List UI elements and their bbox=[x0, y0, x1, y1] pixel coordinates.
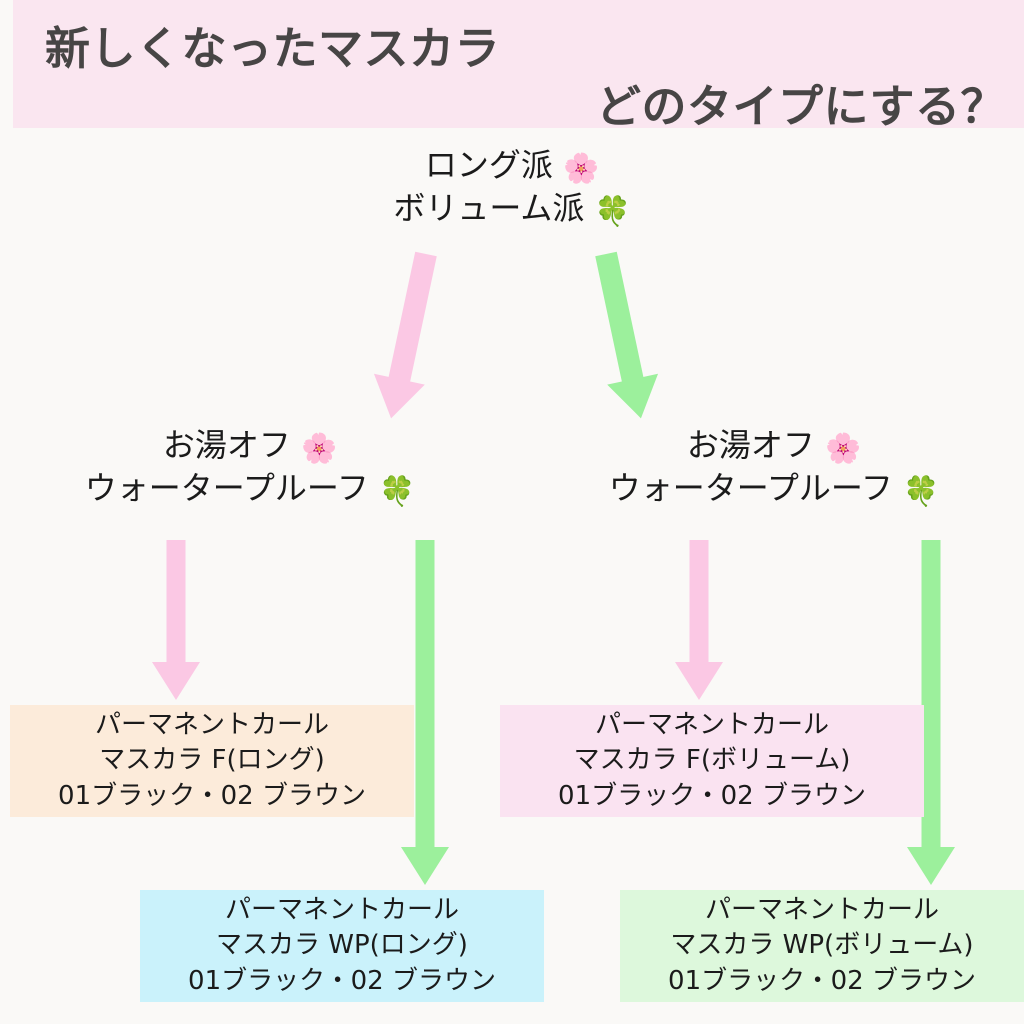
right-option-hotwater-row: お湯オフ 🌸 bbox=[524, 424, 1024, 467]
arrow-shaft bbox=[416, 540, 435, 847]
arrow-head bbox=[366, 374, 425, 424]
branch-left-decision-node: お湯オフ 🌸 ウォータープルーフ 🍀 bbox=[0, 424, 500, 511]
four-leaf-clover-icon: 🍀 bbox=[379, 474, 415, 508]
product-line-2: マスカラ WP(ロング) bbox=[216, 928, 468, 963]
left-option-hotwater-label: お湯オフ bbox=[163, 426, 291, 464]
header-title-line-1: 新しくなったマスカラ bbox=[45, 12, 500, 77]
header-banner: 新しくなったマスカラ どのタイプにする？ bbox=[13, 0, 1024, 128]
product-box-f-long: パーマネントカール マスカラ F(ロング) 01ブラック・02 ブラウン bbox=[10, 705, 414, 817]
arrow-head bbox=[152, 662, 200, 700]
product-line-3: 01ブラック・02 ブラウン bbox=[668, 964, 976, 999]
left-option-waterproof-label: ウォータープルーフ bbox=[85, 469, 369, 507]
product-box-wp-volume: パーマネントカール マスカラ WP(ボリューム) 01ブラック・02 ブラウン bbox=[620, 890, 1024, 1002]
cherry-blossom-icon: 🌸 bbox=[301, 431, 337, 465]
four-leaf-clover-icon: 🍀 bbox=[595, 194, 631, 228]
product-box-wp-long: パーマネントカール マスカラ WP(ロング) 01ブラック・02 ブラウン bbox=[140, 890, 544, 1002]
product-line-3: 01ブラック・02 ブラウン bbox=[188, 964, 496, 999]
right-option-waterproof-row: ウォータープルーフ 🍀 bbox=[524, 467, 1024, 510]
arrow-left-hotwater-to-f-long bbox=[151, 540, 201, 700]
left-option-hotwater-row: お湯オフ 🌸 bbox=[0, 424, 500, 467]
product-line-2: マスカラ F(ロング) bbox=[99, 743, 325, 778]
arrow-head bbox=[607, 374, 666, 424]
cherry-blossom-icon: 🌸 bbox=[825, 431, 861, 465]
product-line-1: パーマネントカール bbox=[95, 708, 329, 743]
arrow-head bbox=[907, 847, 955, 885]
product-line-3: 01ブラック・02 ブラウン bbox=[58, 779, 366, 814]
product-line-1: パーマネントカール bbox=[225, 893, 459, 928]
right-option-hotwater-label: お湯オフ bbox=[687, 426, 815, 464]
product-line-1: パーマネントカール bbox=[595, 708, 829, 743]
root-option-long-label: ロング派 bbox=[425, 146, 553, 184]
product-line-2: マスカラ F(ボリューム) bbox=[574, 743, 851, 778]
product-line-3: 01ブラック・02 ブラウン bbox=[558, 779, 866, 814]
header-title-line-2: どのタイプにする？ bbox=[596, 70, 1006, 135]
product-line-2: マスカラ WP(ボリューム) bbox=[670, 928, 973, 963]
root-option-volume-row: ボリューム派 🍀 bbox=[0, 187, 1024, 230]
four-leaf-clover-icon: 🍀 bbox=[903, 474, 939, 508]
arrow-shaft bbox=[167, 540, 186, 662]
product-box-f-volume: パーマネントカール マスカラ F(ボリューム) 01ブラック・02 ブラウン bbox=[500, 705, 924, 817]
left-option-waterproof-row: ウォータープルーフ 🍀 bbox=[0, 467, 500, 510]
product-line-1: パーマネントカール bbox=[705, 893, 939, 928]
branch-right-decision-node: お湯オフ 🌸 ウォータープルーフ 🍀 bbox=[524, 424, 1024, 511]
arrow-root-to-volume bbox=[579, 248, 669, 424]
root-option-volume-label: ボリューム派 bbox=[393, 189, 584, 227]
cherry-blossom-icon: 🌸 bbox=[563, 151, 599, 185]
arrow-shaft bbox=[595, 252, 645, 389]
arrow-head bbox=[675, 662, 723, 700]
root-option-long-row: ロング派 🌸 bbox=[0, 144, 1024, 187]
flowchart-canvas: 新しくなったマスカラ どのタイプにする？ ロング派 🌸 ボリューム派 🍀 お湯オ… bbox=[0, 0, 1024, 1024]
right-option-waterproof-label: ウォータープルーフ bbox=[609, 469, 893, 507]
root-decision-node: ロング派 🌸 ボリューム派 🍀 bbox=[0, 144, 1024, 231]
arrow-root-to-long bbox=[364, 248, 454, 424]
arrow-right-hotwater-to-f-volume bbox=[674, 540, 724, 700]
arrow-head bbox=[401, 847, 449, 885]
arrow-shaft bbox=[922, 540, 941, 847]
arrow-shaft bbox=[387, 252, 437, 389]
arrow-shaft bbox=[690, 540, 709, 662]
